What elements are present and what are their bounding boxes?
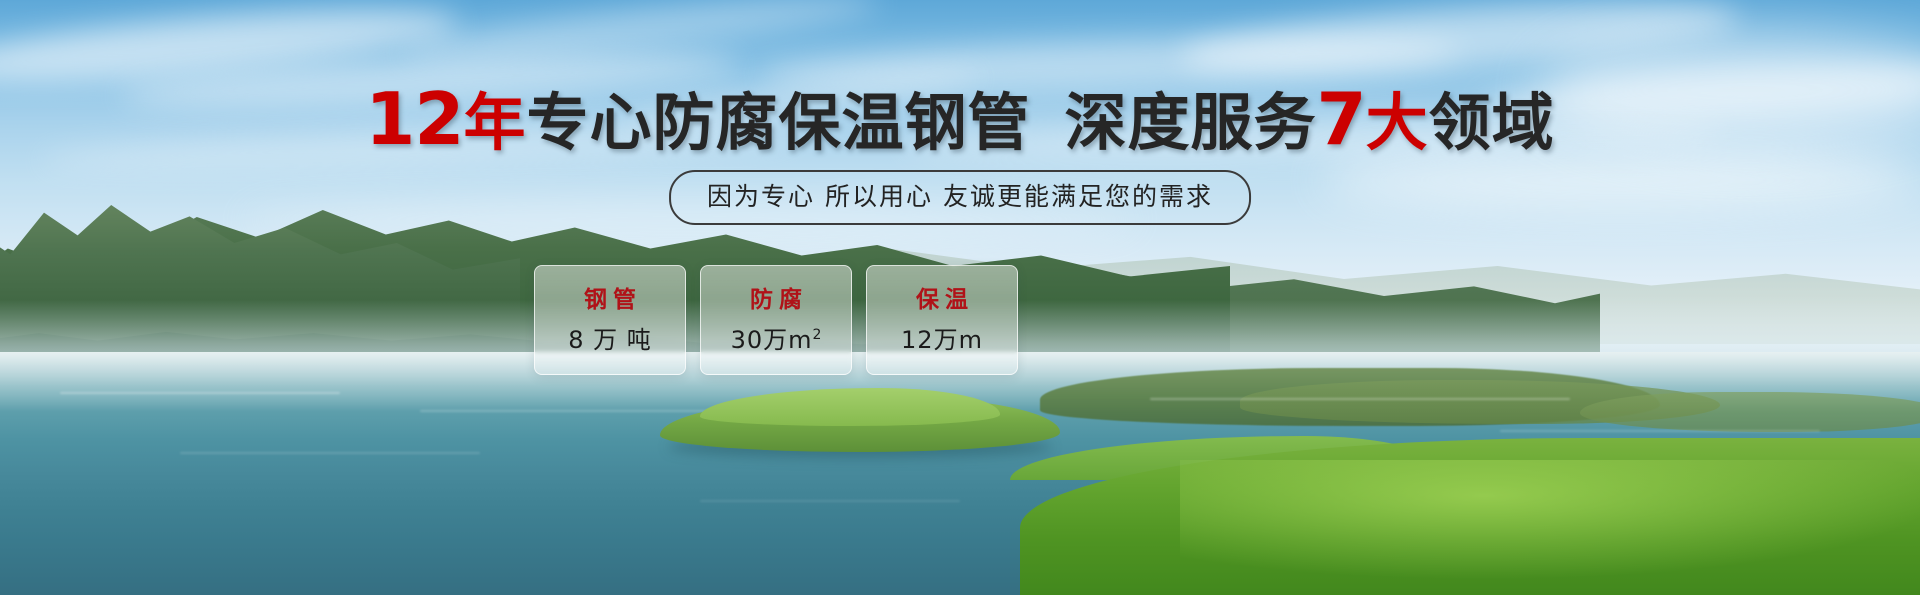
stat-card-group: 钢管 8 万 吨 防腐 30万m2 保温 12万m (534, 265, 1018, 375)
stat-card-value: 12万m (901, 328, 983, 352)
stat-value-main: 8 万 吨 (568, 326, 652, 354)
banner-subtitle-pill: 因为专心 所以用心 友诚更能满足您的需求 (669, 170, 1251, 225)
stat-value-superscript: 2 (813, 327, 822, 343)
stat-card-title: 钢管 (578, 289, 642, 312)
grass-highlight (1180, 460, 1920, 580)
marsh-strip (1580, 392, 1920, 432)
banner-headline: 12年专心防腐保温钢管深度服务7大领域 (0, 83, 1920, 155)
stat-card-steel-pipe[interactable]: 钢管 8 万 吨 (534, 265, 686, 375)
cloud-streak (1320, 150, 1920, 210)
stat-card-value: 30万m2 (731, 328, 822, 352)
stat-value-main: 12万m (901, 326, 983, 354)
water-ripple (60, 392, 340, 394)
water-ripple (1150, 398, 1570, 400)
headline-main-text: 专心防腐保温钢管 (527, 86, 1031, 159)
headline-service-text: 深度服务 (1065, 86, 1317, 159)
headline-years-number: 12 (365, 77, 463, 161)
stat-value-main: 30万m (731, 326, 813, 354)
headline-fields-number: 7 (1317, 77, 1366, 161)
headline-fields-text: 领域 (1429, 86, 1555, 159)
stat-card-anticorrosion[interactable]: 防腐 30万m2 (700, 265, 852, 375)
headline-fields-unit: 大 (1366, 86, 1429, 159)
stat-card-title: 保温 (910, 289, 974, 312)
water-ripple (700, 500, 960, 502)
hero-banner: 12年专心防腐保温钢管深度服务7大领域 因为专心 所以用心 友诚更能满足您的需求… (0, 0, 1920, 595)
stat-card-value: 8 万 吨 (568, 328, 652, 352)
stat-card-title: 防腐 (744, 289, 808, 312)
water-ripple (1500, 430, 1820, 432)
stat-card-insulation[interactable]: 保温 12万m (866, 265, 1018, 375)
headline-years-unit: 年 (464, 86, 527, 159)
water-ripple (180, 452, 480, 454)
